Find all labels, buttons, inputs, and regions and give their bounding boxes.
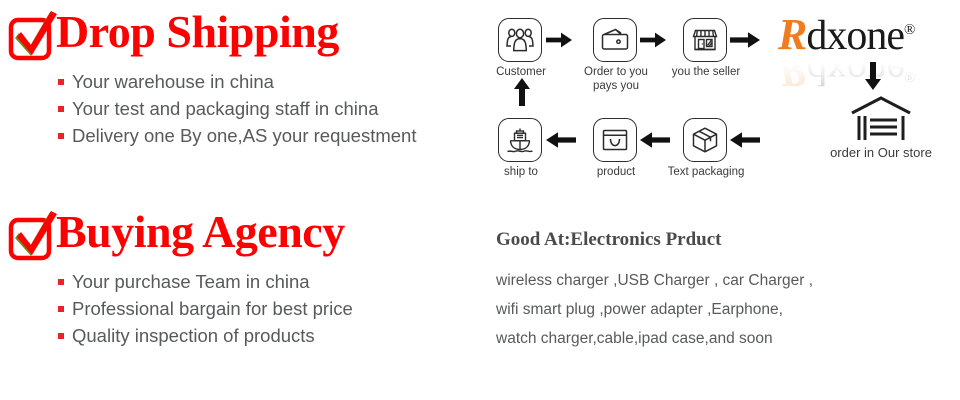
flow-node-caption: ship to (504, 166, 538, 180)
registered-trademark-icon: ® (904, 22, 915, 38)
flow-node-product: product (593, 118, 639, 180)
list-item: Delivery one By one,AS your requestment (56, 122, 416, 149)
arrow-right-icon (730, 31, 760, 49)
red-checkmark-icon (8, 14, 58, 64)
wallet-icon (593, 18, 637, 62)
arrow-left-icon (546, 131, 576, 149)
flow-node-packaging: Text packaging (683, 118, 729, 180)
flow-node-ship: ship to (498, 118, 544, 180)
flow-node-caption: product (597, 166, 635, 180)
brand-logo: Rdxone® Rdxone® (778, 8, 953, 64)
arrow-up-icon (513, 78, 531, 106)
list-item-label: Your warehouse in china (72, 71, 274, 92)
left-column: Drop Shipping Your warehouse in china Yo… (0, 0, 480, 400)
brand-name: dxone (806, 13, 904, 59)
product-line: wifi smart plug ,power adapter ,Earphone… (496, 295, 956, 324)
promo-header: Drop Shipping (0, 6, 480, 64)
bullet-square-icon (58, 133, 64, 139)
list-item-label: Delivery one By one,AS your requestment (72, 125, 416, 146)
flow-node-caption: you the seller (672, 66, 740, 80)
promo-list: Your purchase Team in china Professional… (56, 268, 353, 349)
arrow-down-icon (864, 62, 882, 90)
bullet-square-icon (58, 79, 64, 85)
promo-block-buying-agency: Buying Agency Your purchase Team in chin… (0, 206, 480, 264)
list-item: Your purchase Team in china (56, 268, 353, 295)
good-at-product-list: wireless charger ,USB Charger , car Char… (496, 266, 956, 353)
page-title: Buying Agency (56, 204, 345, 260)
flow-node-customer: Customer (498, 18, 544, 80)
flow-node-seller: you the seller (683, 18, 729, 80)
promo-block-drop-shipping: Drop Shipping Your warehouse in china Yo… (0, 6, 480, 64)
good-at-section: Good At:Electronics Prduct wireless char… (496, 228, 956, 353)
flow-node-caption: order in Our store (816, 145, 946, 160)
flow-node-caption: Order to youpays you (584, 66, 648, 93)
parcel-box-icon (683, 118, 727, 162)
caption-line-2: pays you (593, 80, 639, 92)
bullet-square-icon (58, 106, 64, 112)
list-item-label: Your test and packaging staff in china (72, 98, 379, 119)
bullet-square-icon (58, 333, 64, 339)
list-item: Professional bargain for best price (56, 295, 353, 322)
brand-wordmark: Rdxone® (778, 8, 953, 58)
people-group-icon (498, 18, 542, 62)
good-at-title: Good At:Electronics Prduct (496, 228, 956, 252)
warehouse-icon (816, 96, 946, 142)
list-item: Your test and packaging staff in china (56, 95, 416, 122)
storefront-icon (683, 18, 727, 62)
registered-trademark-icon-reflection: ® (904, 68, 915, 84)
list-item: Quality inspection of products (56, 322, 353, 349)
product-line: wireless charger ,USB Charger , car Char… (496, 266, 956, 295)
page-title: Drop Shipping (56, 4, 339, 60)
flow-node-warehouse: order in Our store (816, 96, 946, 160)
list-item: Your warehouse in china (56, 68, 416, 95)
dropshipping-flow-diagram: Customer Order to youpays you (480, 0, 960, 205)
product-line: watch charger,cable,ipad case,and soon (496, 324, 956, 353)
arrow-right-icon (546, 31, 572, 49)
arrow-left-icon (730, 131, 760, 149)
ship-icon (498, 118, 542, 162)
arrow-left-icon (640, 131, 670, 149)
promo-header: Buying Agency (0, 206, 480, 264)
list-item-label: Professional bargain for best price (72, 298, 353, 319)
flow-node-caption: Text packaging (668, 166, 745, 180)
shopping-bag-icon (593, 118, 637, 162)
brand-initial: R (778, 10, 806, 59)
caption-line-1: Order to you (584, 66, 648, 78)
promo-list: Your warehouse in china Your test and pa… (56, 68, 416, 149)
banner-root: Drop Shipping Your warehouse in china Yo… (0, 0, 960, 400)
bullet-square-icon (58, 306, 64, 312)
arrow-right-icon (640, 31, 666, 49)
right-column: Customer Order to youpays you (480, 0, 960, 400)
list-item-label: Quality inspection of products (72, 325, 315, 346)
flow-node-order: Order to youpays you (593, 18, 639, 93)
red-checkmark-icon (8, 214, 58, 264)
bullet-square-icon (58, 279, 64, 285)
list-item-label: Your purchase Team in china (72, 271, 310, 292)
